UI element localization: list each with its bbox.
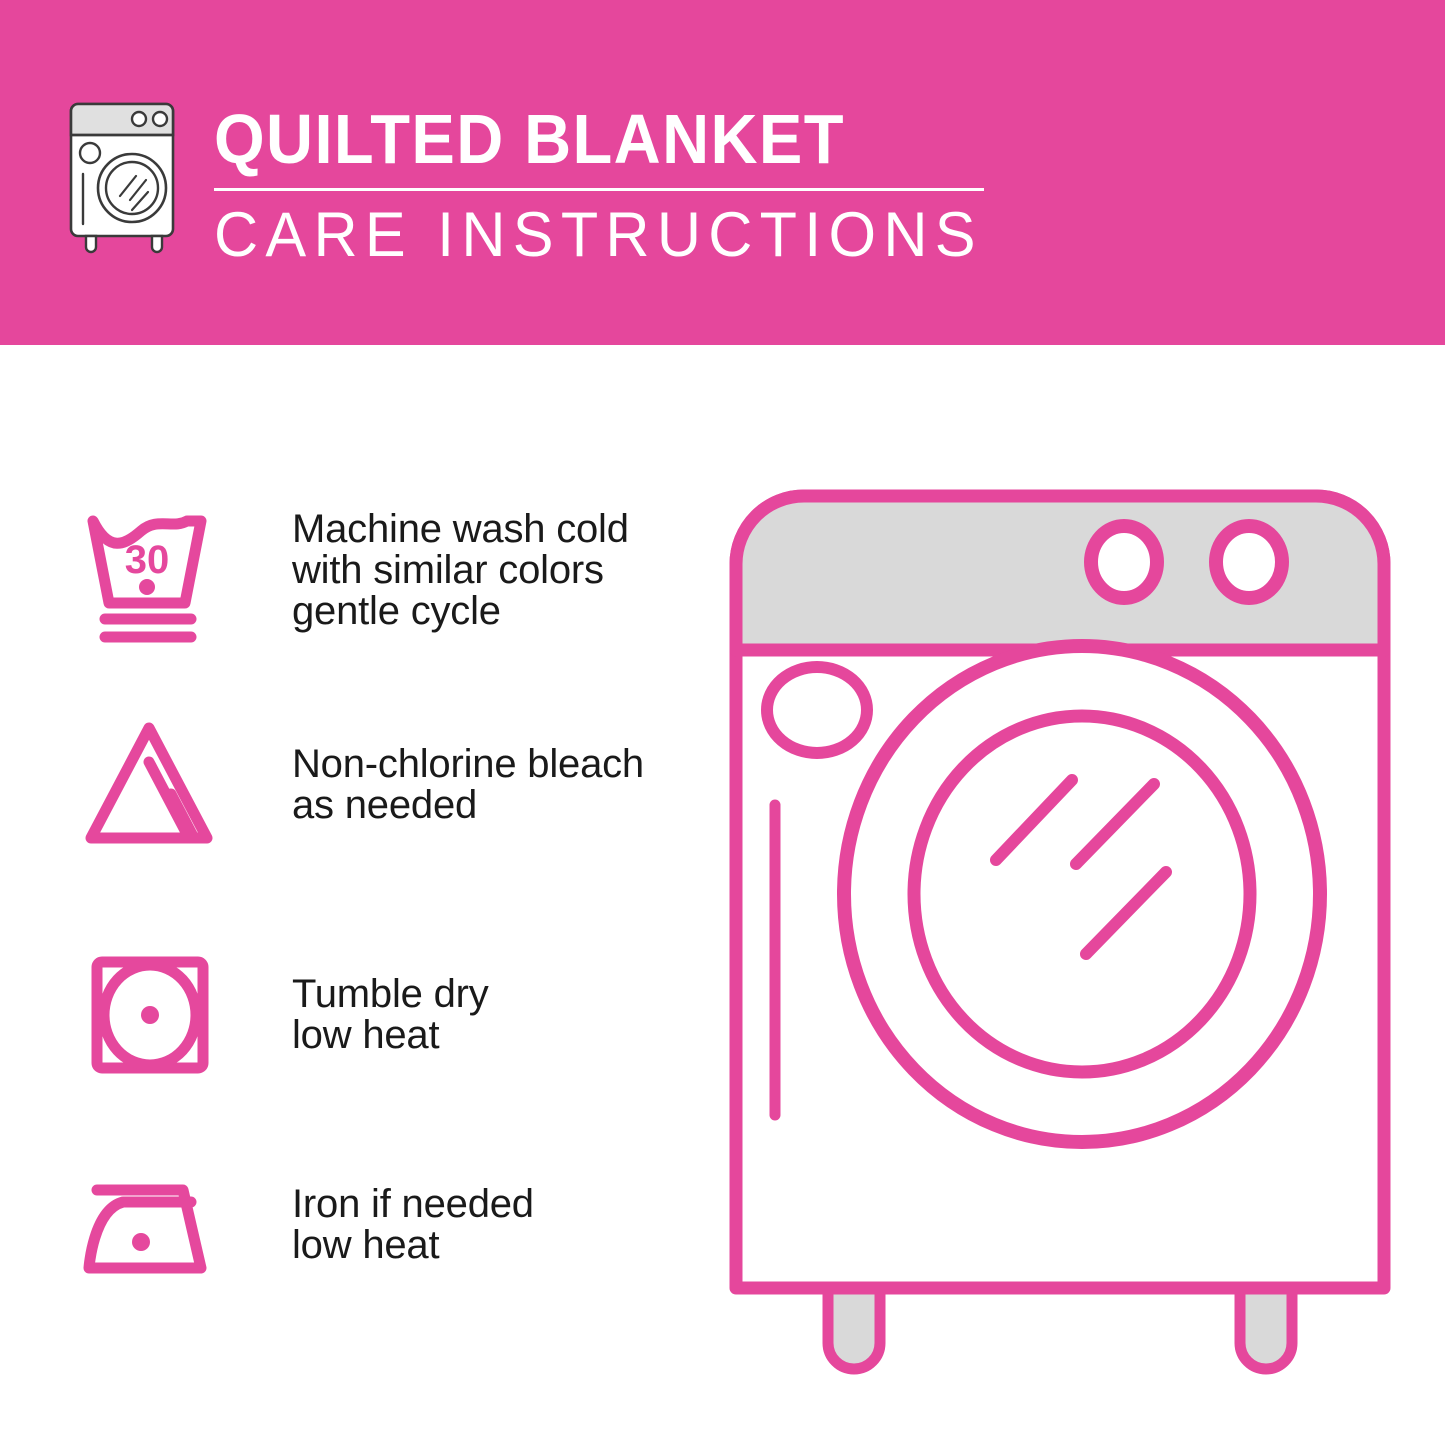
page-title: QUILTED BLANKET	[214, 104, 951, 174]
care-line: Non-chlorine bleach	[292, 744, 644, 785]
care-text: Tumble dry low heat	[292, 974, 489, 1056]
care-row: Iron if needed low heat	[70, 1150, 690, 1300]
non-chlorine-bleach-triangle-icon	[70, 710, 230, 860]
washing-machine-icon	[60, 96, 192, 256]
header-title-group: QUILTED BLANKET CARE INSTRUCTIONS	[214, 96, 1007, 268]
care-line: low heat	[292, 1225, 534, 1266]
wash-temperature-label: 30	[125, 538, 170, 582]
washer-leg-right	[1240, 1288, 1292, 1369]
tumble-dry-low-icon	[70, 940, 230, 1090]
iron-low-heat-icon	[70, 1150, 230, 1300]
care-line: Tumble dry	[292, 974, 489, 1015]
washer-door-inner	[914, 716, 1250, 1072]
washer-leg-left	[828, 1288, 880, 1369]
care-line: low heat	[292, 1015, 489, 1056]
title-divider	[214, 188, 984, 191]
header-banner: QUILTED BLANKET CARE INSTRUCTIONS	[0, 0, 1445, 345]
care-row: Non-chlorine bleach as needed	[70, 710, 690, 860]
care-text: Iron if needed low heat	[292, 1184, 534, 1266]
front-load-washing-machine-illustration	[700, 460, 1420, 1380]
care-line: as needed	[292, 785, 644, 826]
care-line: Iron if needed	[292, 1184, 534, 1225]
header-content: QUILTED BLANKET CARE INSTRUCTIONS	[60, 96, 1007, 268]
care-line: with similar colors	[292, 550, 629, 591]
control-knob-left	[1091, 526, 1157, 598]
wash-tub-30-gentle-icon: 30	[70, 495, 230, 645]
care-line: gentle cycle	[292, 591, 629, 632]
care-row: Tumble dry low heat	[70, 940, 690, 1090]
care-text: Non-chlorine bleach as needed	[292, 744, 644, 826]
control-knob-right	[1216, 526, 1282, 598]
care-text: Machine wash cold with similar colors ge…	[292, 509, 629, 632]
care-instruction-list: 30 Machine wash cold with similar colors…	[0, 345, 700, 1445]
care-row: 30 Machine wash cold with similar colors…	[70, 495, 690, 645]
page-subtitle: CARE INSTRUCTIONS	[214, 202, 983, 268]
care-line: Machine wash cold	[292, 509, 629, 550]
dispenser-circle	[767, 667, 867, 753]
